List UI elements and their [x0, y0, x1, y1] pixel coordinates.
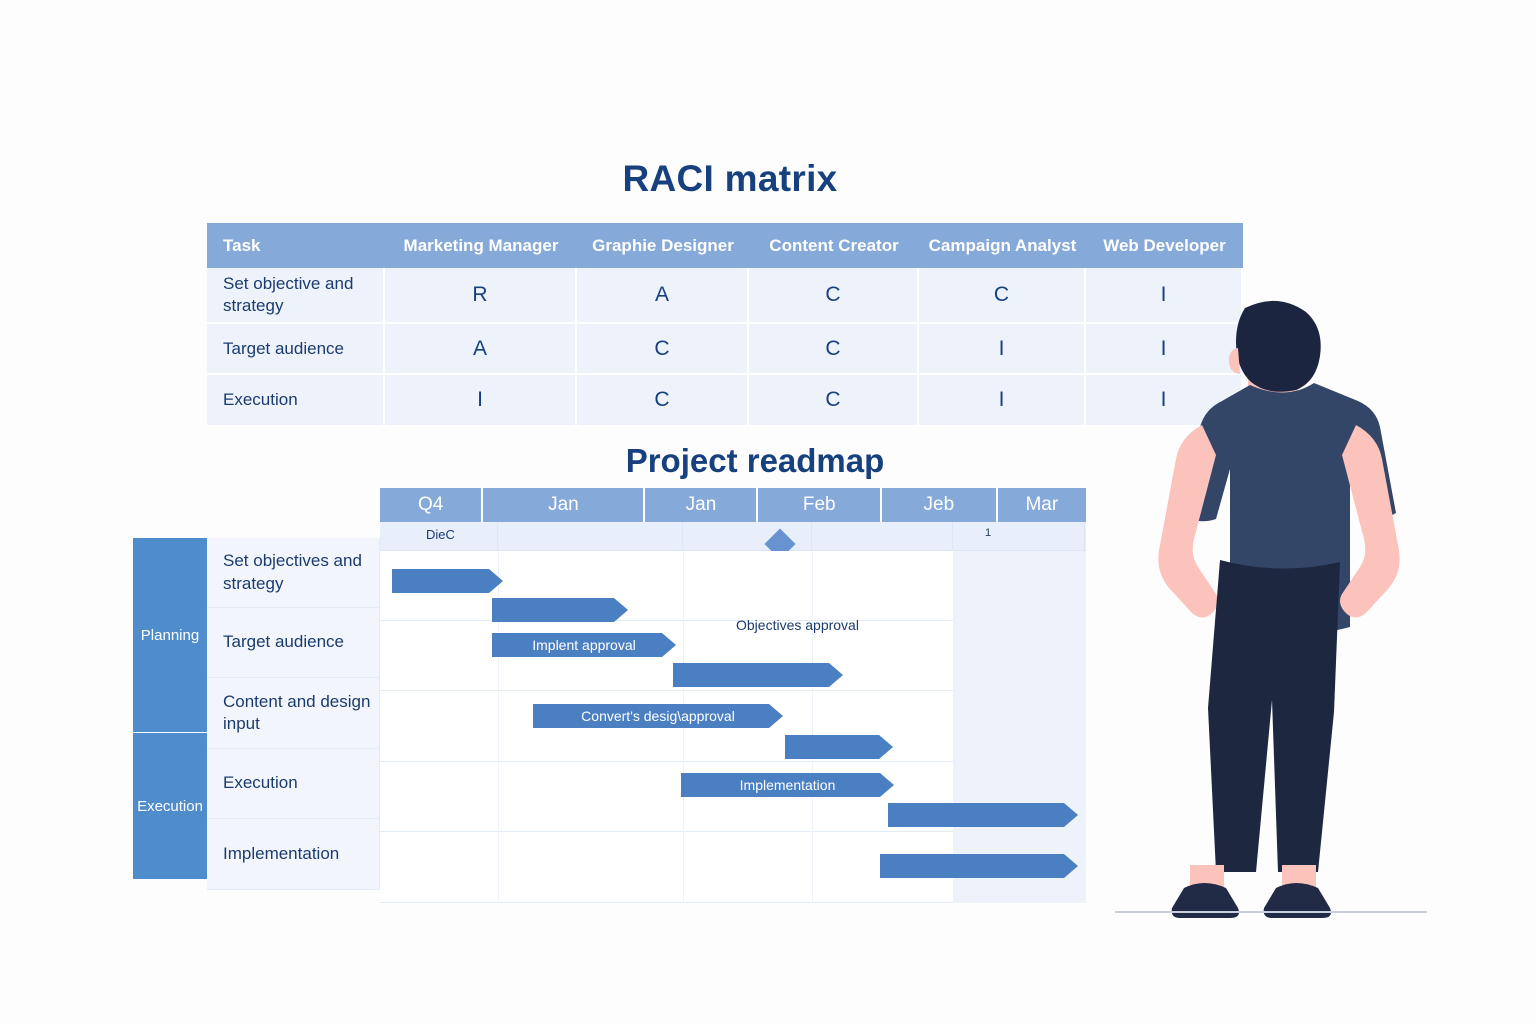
raci-cell: C [919, 268, 1086, 324]
raci-cell: A [577, 268, 749, 324]
raci-cell: I [919, 324, 1086, 375]
raci-cell: I [919, 375, 1086, 427]
roadmap-group-column: Planning Execution [133, 538, 207, 880]
raci-col-web-developer: Web Developer [1086, 223, 1243, 268]
subheader-label-diec: DieC [426, 527, 455, 542]
gantt-bar[interactable] [492, 598, 628, 622]
month-jan-2: Jan [645, 488, 758, 522]
roadmap-task-label: Set objectives and strategy [207, 538, 380, 608]
raci-col-marketing-manager: Marketing Manager [385, 223, 577, 268]
subheader-marker-label: 1 [985, 527, 991, 539]
roadmap-month-header: Q4 Jan Jan Feb Jeb Mar [380, 488, 1086, 522]
gantt-bar[interactable] [392, 569, 503, 593]
raci-row-label: Execution [207, 375, 385, 427]
month-jan-1: Jan [483, 488, 645, 522]
table-row: Execution I C C I I [207, 375, 1243, 427]
raci-row-label: Set objective and strategy [207, 268, 385, 324]
month-mar: Mar [998, 488, 1086, 522]
raci-cell: C [577, 375, 749, 427]
raci-cell: C [749, 268, 919, 324]
canvas: RACI matrix Task Marketing Manager Graph… [0, 0, 1536, 1024]
person-illustration [1110, 290, 1450, 930]
roadmap-group-execution: Execution [133, 733, 207, 880]
roadmap-subheader-row: DieC 1 [380, 522, 1086, 551]
raci-cell: C [577, 324, 749, 375]
raci-col-task: Task [207, 223, 385, 268]
gantt-bar[interactable] [888, 803, 1078, 827]
raci-col-graphic-designer: Graphie Designer [577, 223, 749, 268]
milestone-note: Objectives approval [736, 617, 859, 633]
gantt-bar[interactable]: Implementation [681, 773, 894, 797]
table-row: Set objective and strategy R A C C I [207, 268, 1243, 324]
raci-cell: C [749, 375, 919, 427]
month-feb: Feb [758, 488, 882, 522]
gantt-bar[interactable]: Convert's desig\approval [533, 704, 783, 728]
subheader-cell [498, 522, 683, 550]
raci-row-label: Target audience [207, 324, 385, 375]
gantt-tail-column [953, 551, 1086, 903]
gantt-gridline [953, 551, 954, 903]
roadmap-task-label: Content and design input [207, 678, 380, 749]
roadmap-gantt-body: Objectives approval Implent approval Con… [380, 551, 1086, 903]
gantt-bar[interactable]: Implent approval [492, 633, 676, 657]
raci-matrix-table: Task Marketing Manager Graphie Designer … [207, 223, 1243, 427]
roadmap-task-label: Implementation [207, 819, 380, 890]
raci-cell: A [385, 324, 577, 375]
ground-line [1115, 911, 1427, 913]
raci-cell: R [385, 268, 577, 324]
subheader-cell [812, 522, 953, 550]
month-q4: Q4 [380, 488, 483, 522]
roadmap-timeline: Q4 Jan Jan Feb Jeb Mar DieC 1 [380, 488, 1086, 903]
subheader-cell [953, 522, 1085, 550]
roadmap-task-column: Set objectives and strategy Target audie… [207, 538, 380, 890]
roadmap-task-label: Execution [207, 749, 380, 819]
raci-col-campaign-analyst: Campaign Analyst [919, 223, 1086, 268]
raci-cell: C [749, 324, 919, 375]
raci-matrix-title: RACI matrix [0, 158, 1460, 200]
gantt-gridline [812, 551, 813, 903]
gantt-bar[interactable] [785, 735, 893, 759]
table-row: Target audience A C C I I [207, 324, 1243, 375]
roadmap-group-planning: Planning [133, 538, 207, 733]
raci-col-content-creator: Content Creator [749, 223, 919, 268]
raci-cell: I [385, 375, 577, 427]
roadmap-task-label: Target audience [207, 608, 380, 678]
month-jeb: Jeb [882, 488, 998, 522]
gantt-bar[interactable] [880, 854, 1078, 878]
raci-header-row: Task Marketing Manager Graphie Designer … [207, 223, 1243, 268]
gantt-bar[interactable] [673, 663, 843, 687]
